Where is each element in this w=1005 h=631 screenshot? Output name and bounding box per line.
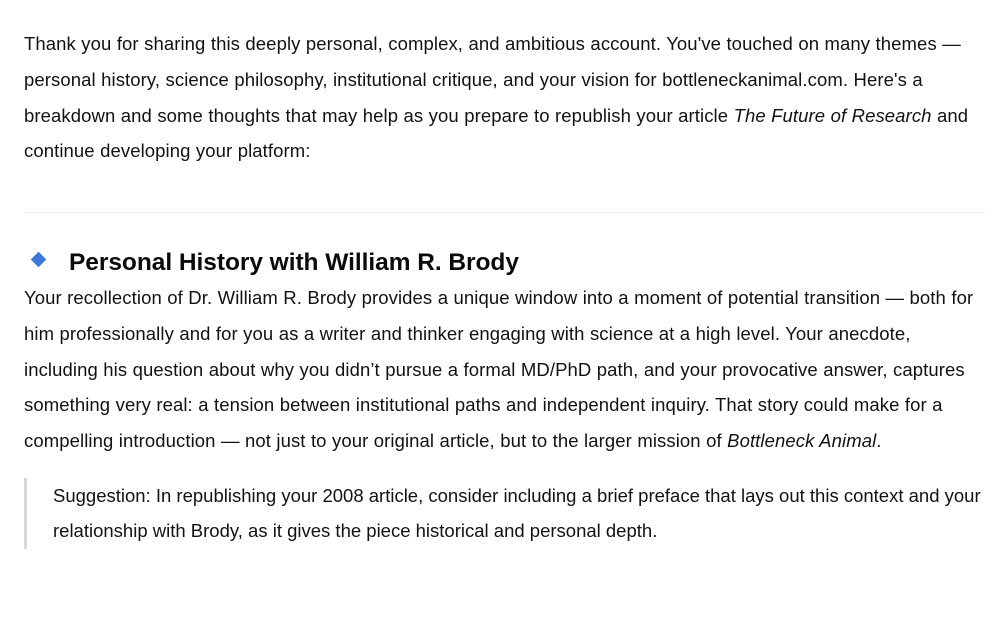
assistant-response-page: Thank you for sharing this deeply person…	[0, 0, 1005, 631]
intro-article-title: The Future of Research	[734, 105, 932, 126]
section-platform-title: Bottleneck Animal	[727, 430, 876, 451]
section-text-after-title: .	[876, 430, 881, 451]
intro-paragraph: Thank you for sharing this deeply person…	[24, 0, 986, 169]
section-text-before-title: Your recollection of Dr. William R. Brod…	[24, 287, 973, 451]
diamond-bullet-icon	[31, 252, 47, 268]
suggestion-blockquote: Suggestion: In republishing your 2008 ar…	[24, 478, 986, 549]
section-heading-text: Personal History with William R. Brody	[69, 246, 519, 280]
suggestion-text: Suggestion: In republishing your 2008 ar…	[53, 478, 986, 549]
section-paragraph: Your recollection of Dr. William R. Brod…	[24, 280, 986, 459]
intro-block: Thank you for sharing this deeply person…	[24, 0, 986, 169]
section-divider	[24, 212, 985, 213]
section-heading-row: Personal History with William R. Brody	[24, 246, 986, 280]
section-personal-history: Personal History with William R. Brody Y…	[24, 246, 986, 549]
